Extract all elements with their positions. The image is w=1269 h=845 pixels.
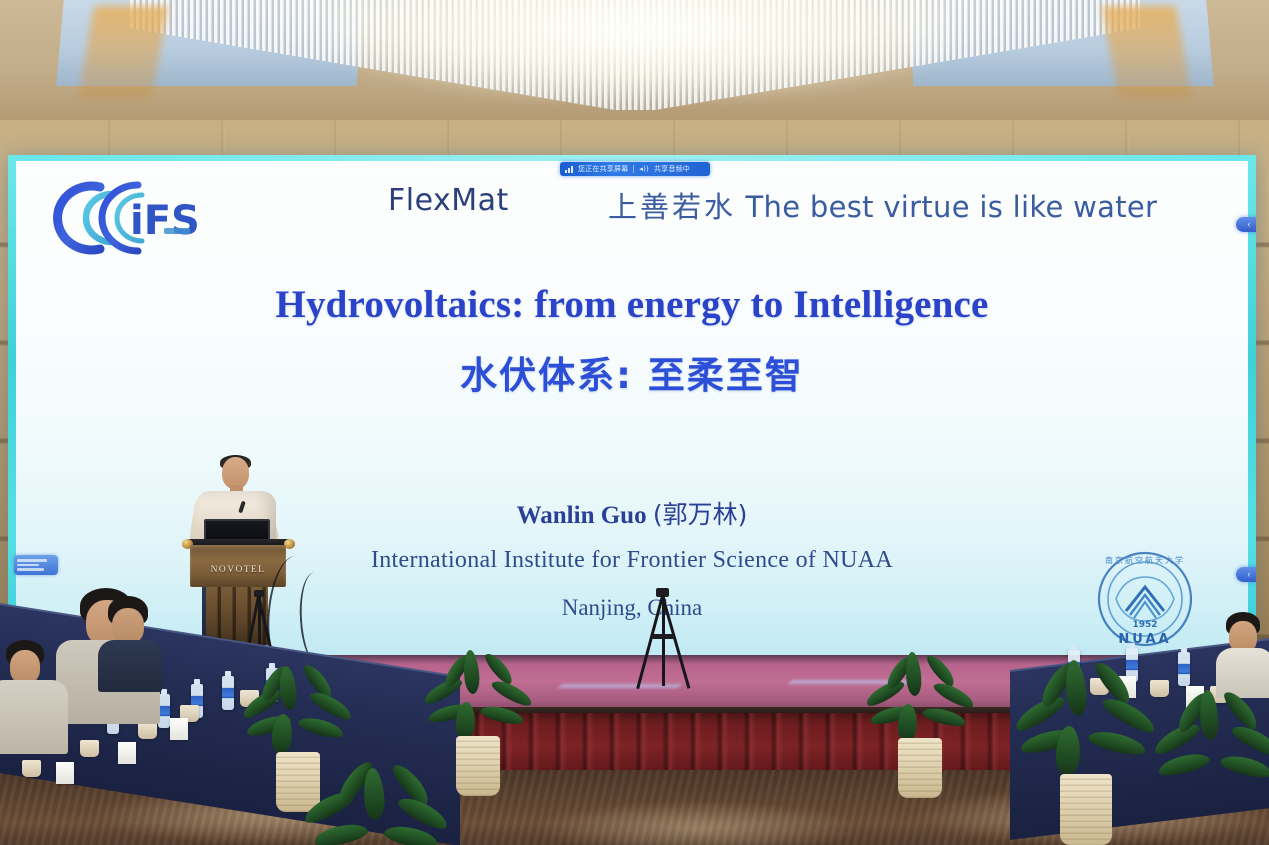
flexmat-brand: FlexMat xyxy=(388,183,509,218)
potted-plant-foliage xyxy=(420,650,536,744)
tripod-center xyxy=(628,588,696,694)
share-audio-text: 共享音频中 xyxy=(654,164,690,174)
slide-motto: 上善若水 The best virtue is like water xyxy=(608,184,1157,226)
potted-plant-foliage xyxy=(862,652,978,746)
screen-bezel-left xyxy=(8,155,16,663)
slide-title-chinese: 水伏体系: 至柔至智 xyxy=(8,345,1256,399)
author-name-en: Wanlin Guo xyxy=(517,502,647,529)
ifs-logo: iFS xyxy=(38,179,206,257)
document-sheet xyxy=(170,718,188,740)
motto-cn: 上善若水 xyxy=(608,190,736,224)
share-notice-separator xyxy=(633,165,634,173)
seal-acronym: NUAA xyxy=(1118,632,1171,647)
chevron-left-icon: ‹ xyxy=(1248,570,1251,579)
potted-plant-foliage xyxy=(1150,690,1269,800)
document-sheet xyxy=(56,762,74,784)
author-name-cn: (郭万林) xyxy=(653,500,748,529)
paper-cup xyxy=(22,760,41,777)
screen-bezel-top xyxy=(8,155,1256,161)
potted-plant-foliage xyxy=(300,768,450,845)
audience-member xyxy=(96,596,162,684)
planter-ribs xyxy=(1060,774,1112,845)
water-bottle xyxy=(1178,652,1190,686)
seal-year: 1952 xyxy=(1132,620,1157,630)
speaker-icon: ◂)) xyxy=(639,165,649,173)
slide-title-english: Hydrovoltaics: from energy to Intelligen… xyxy=(8,282,1256,327)
ceiling-light-glow xyxy=(330,0,950,100)
tooltip-line xyxy=(17,559,47,562)
signal-bars-icon xyxy=(565,166,573,173)
seal-rim-text: 南京航空航天大学 xyxy=(1105,555,1185,565)
planter-ribs xyxy=(898,738,942,798)
podium-brand-label: NOVOTEL xyxy=(190,565,286,575)
share-status-text: 您正在共享屏幕 xyxy=(578,164,628,174)
conference-photo: iFS 您正在共享屏幕 ◂)) 共享音频中 FlexMat 上善若水 The b… xyxy=(0,0,1269,845)
ifs-wordmark: iFS xyxy=(130,198,200,244)
slide-edge-tab-top[interactable]: ‹ xyxy=(1236,217,1256,232)
potted-plant-foliage xyxy=(1010,660,1160,780)
water-bottle xyxy=(222,676,234,710)
audience-member xyxy=(0,640,70,750)
podium-body: NOVOTEL xyxy=(190,545,286,587)
slide-left-tooltip[interactable] xyxy=(14,555,58,575)
tooltip-line xyxy=(17,564,39,567)
slide-edge-tab-bottom[interactable]: ‹ xyxy=(1236,567,1256,582)
nuaa-seal: 1952 NUAA 南京航空航天大学 xyxy=(1086,547,1204,655)
screen-share-notice: 您正在共享屏幕 ◂)) 共享音频中 xyxy=(560,162,710,176)
chevron-left-icon: ‹ xyxy=(1248,220,1251,229)
tooltip-line xyxy=(17,568,44,571)
planter-ribs xyxy=(456,736,500,796)
potted-plant-foliage xyxy=(236,664,356,760)
paper-cup xyxy=(80,740,99,757)
audience-member xyxy=(1216,612,1269,690)
paper-cup xyxy=(138,722,157,739)
document-sheet xyxy=(118,742,136,764)
motto-en: The best virtue is like water xyxy=(746,190,1158,224)
